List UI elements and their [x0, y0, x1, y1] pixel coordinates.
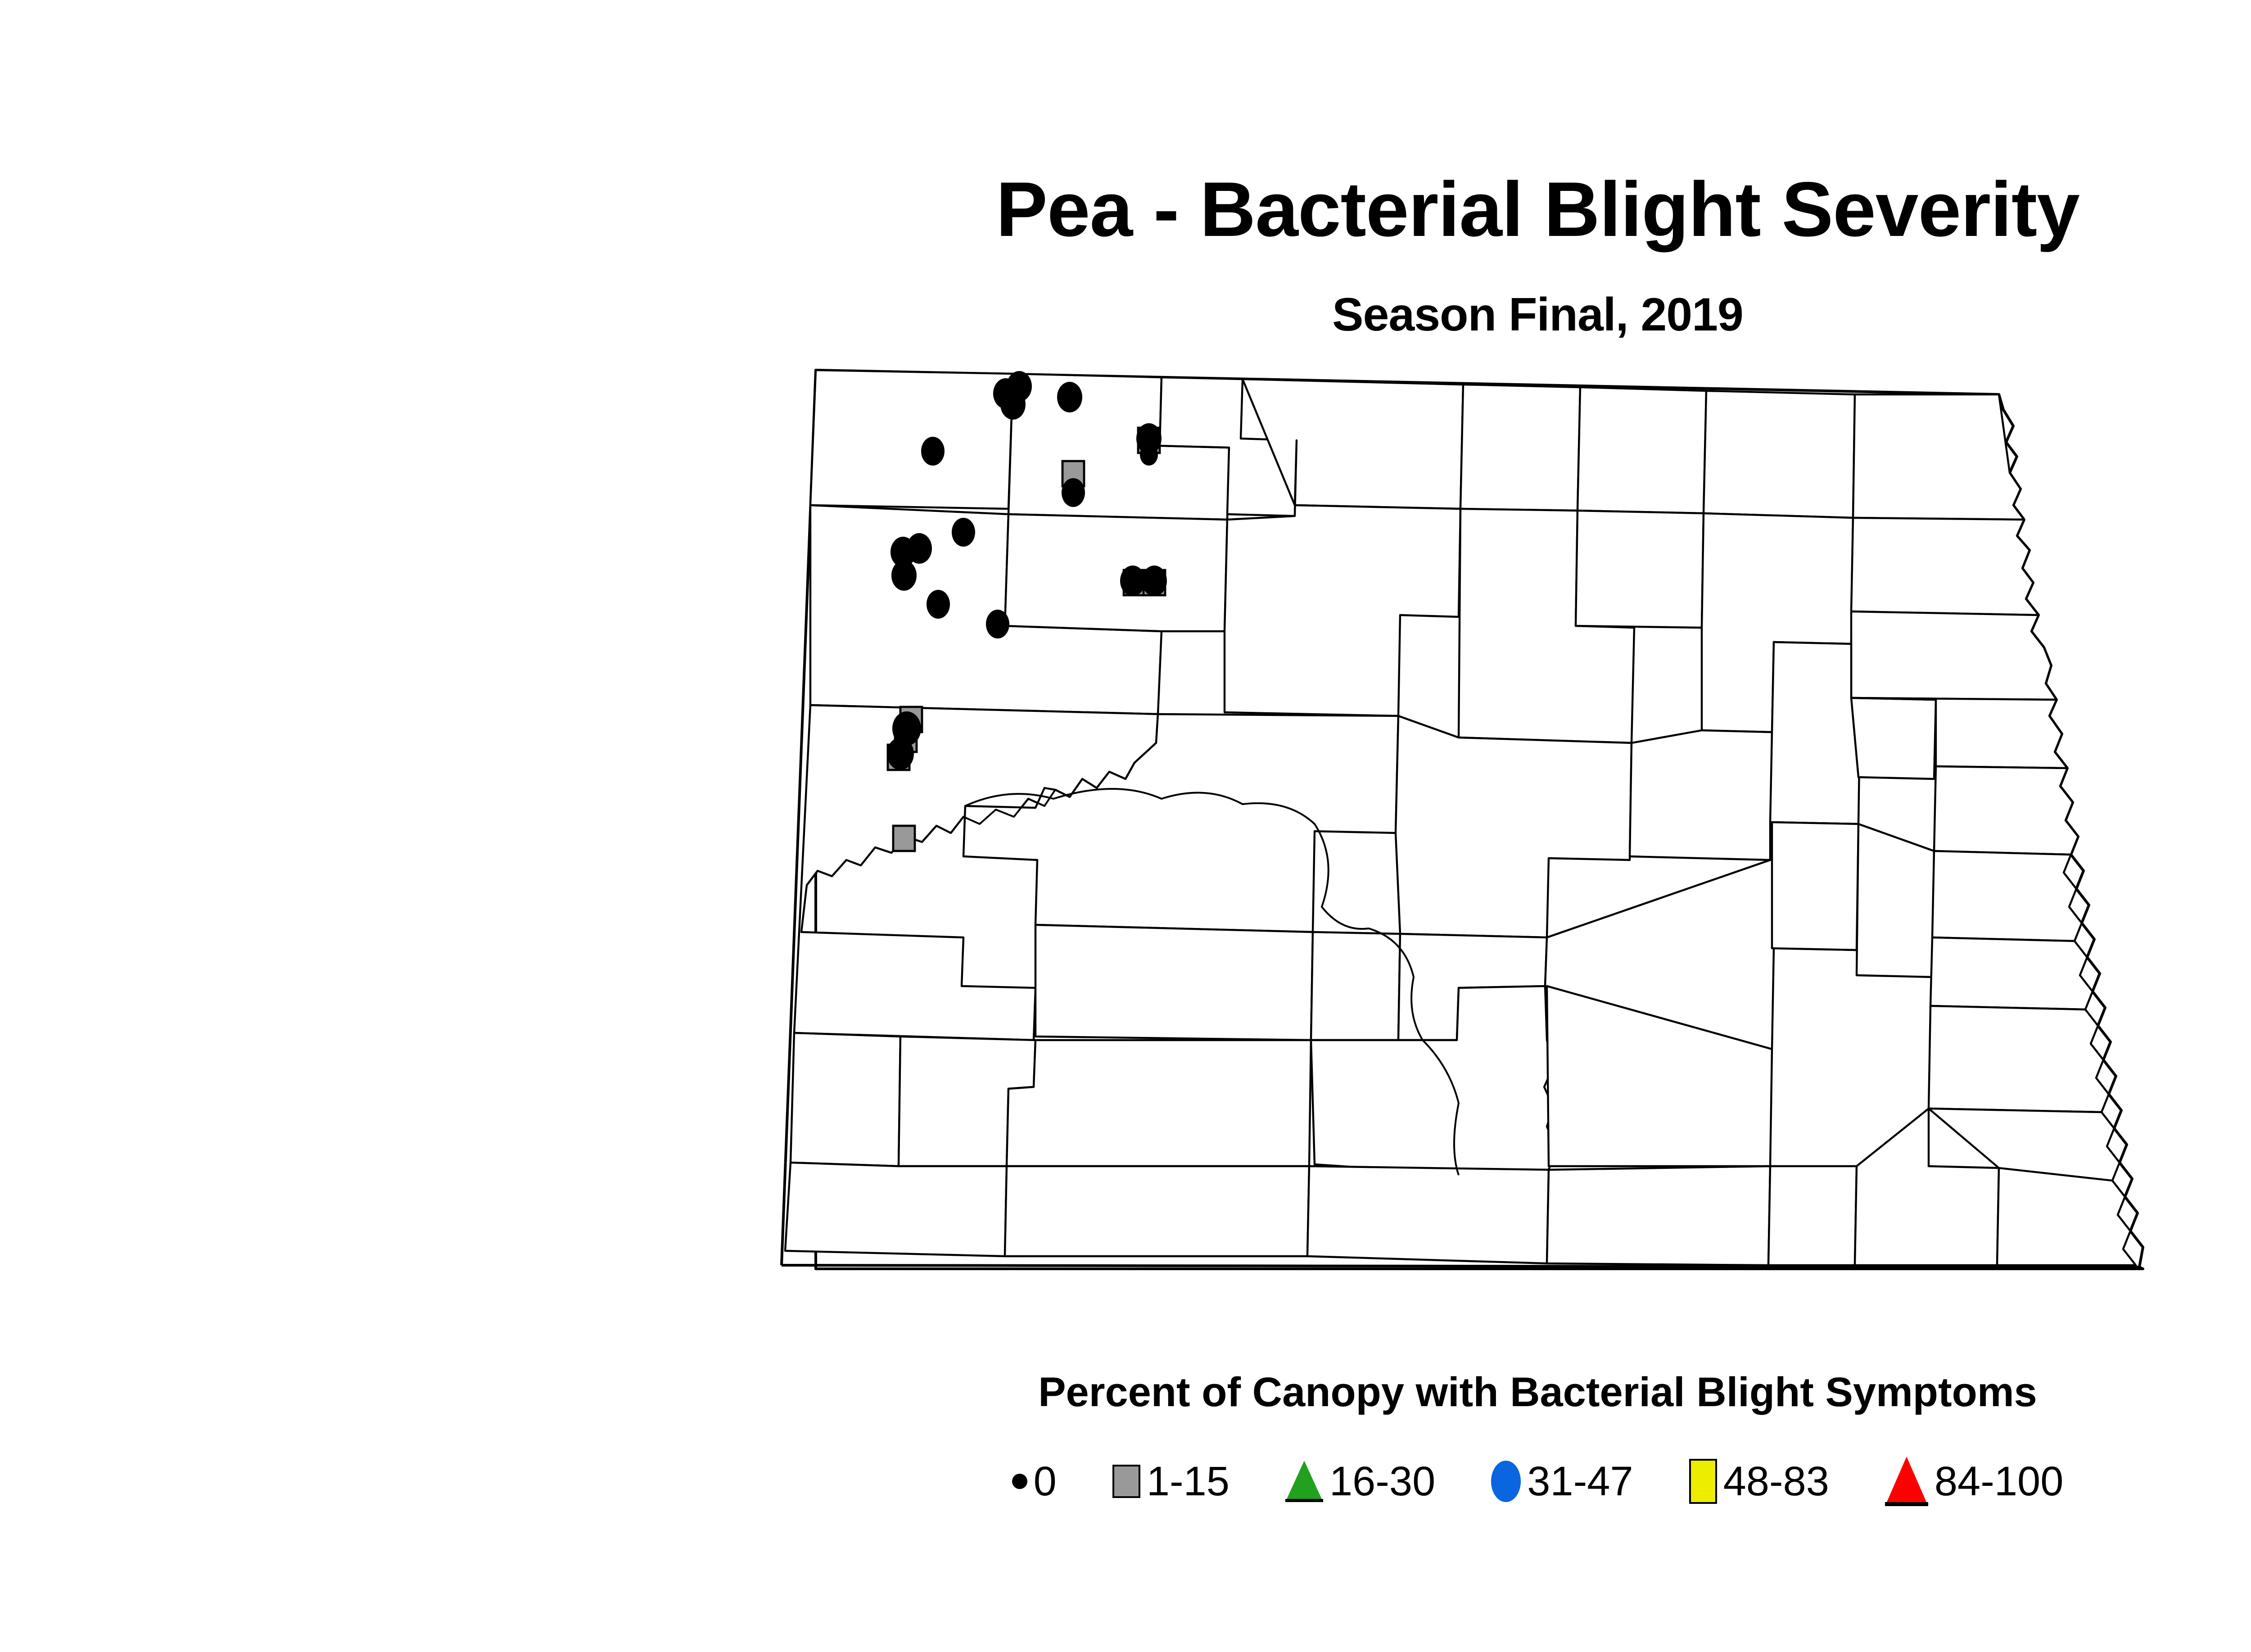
- data-symbol-black-dot: [952, 518, 975, 547]
- county-ramsey: [1851, 518, 2039, 615]
- data-symbol-black-dot: [1062, 478, 1085, 507]
- county-goldenvalley: [791, 1033, 900, 1166]
- data-symbol-black-dot: [986, 610, 1009, 638]
- county-logan: [1768, 1166, 1857, 1265]
- county-emmons: [1547, 1166, 1770, 1265]
- data-symbol-black-dot: [891, 560, 917, 591]
- legend: 0 1-15 16-30 31-47 48-83 84-10: [0, 1448, 2251, 1515]
- red-triangle-icon: [1885, 1457, 1928, 1506]
- data-symbol-gray-square: [893, 826, 915, 851]
- legend-item-48-83[interactable]: 48-83: [1689, 1459, 1829, 1504]
- legend-label-31-47: 31-47: [1527, 1461, 1633, 1502]
- county-wells: [1770, 642, 1860, 824]
- map-county-outlines: [782, 370, 2143, 1269]
- legend-item-0[interactable]: 0: [1012, 1461, 1057, 1502]
- data-symbol-black-dot: [1142, 566, 1167, 596]
- county-towner: [1578, 387, 1706, 513]
- county-richland: [1997, 1168, 2136, 1265]
- county-slope: [785, 1163, 1007, 1256]
- county-divide: [810, 370, 1013, 509]
- legend-item-1-15[interactable]: 1-15: [1112, 1461, 1229, 1502]
- legend-label-16-30: 16-30: [1329, 1461, 1435, 1502]
- county-traill: [1930, 937, 2093, 1009]
- legend-label-0: 0: [1034, 1461, 1057, 1502]
- north-dakota-county-map[interactable]: [738, 356, 2251, 1283]
- gray-square-icon: [1112, 1465, 1140, 1498]
- data-symbol-black-dot: [921, 437, 945, 466]
- county-sheridan: [1630, 730, 1772, 860]
- legend-item-84-100[interactable]: 84-100: [1885, 1457, 2063, 1506]
- legend-item-31-47[interactable]: 31-47: [1491, 1461, 1633, 1502]
- legend-label-1-15: 1-15: [1147, 1461, 1229, 1502]
- legend-title: Percent of Canopy with Bacterial Blight …: [0, 1369, 2251, 1416]
- county-cass: [1929, 1006, 2109, 1112]
- county-kidder: [1772, 822, 1858, 950]
- county-cavalier: [1704, 391, 1855, 518]
- legend-item-16-30[interactable]: 16-30: [1285, 1461, 1435, 1502]
- county-eddy: [1851, 698, 1936, 779]
- green-triangle-icon: [1285, 1461, 1323, 1502]
- legend-label-48-83: 48-83: [1723, 1461, 1829, 1502]
- yellow-square-icon: [1689, 1459, 1717, 1504]
- data-symbol-black-dot: [1057, 382, 1082, 412]
- data-symbol-black-dot: [1120, 566, 1145, 596]
- data-symbol-black-dot: [887, 738, 914, 770]
- county-stutsman: [1857, 824, 1934, 977]
- county-dunnlower: [1035, 925, 1313, 1040]
- county-barnes: [1932, 851, 2082, 941]
- county-walsh: [1851, 611, 2057, 700]
- county-rolette: [1460, 385, 1580, 511]
- county-mountrail: [1005, 514, 1227, 631]
- map-svg[interactable]: [738, 356, 2251, 1283]
- data-symbol-black-dot: [1140, 444, 1158, 466]
- county-stark: [1007, 1040, 1311, 1166]
- page-title: Pea - Bacterial Blight Severity: [0, 167, 2251, 252]
- county-grant: [1307, 1166, 1549, 1263]
- data-symbol-black-dot: [927, 590, 950, 619]
- data-symbol-black-dot: [1000, 389, 1026, 420]
- legend-label-84-100: 84-100: [1935, 1461, 2063, 1502]
- page-subtitle: Season Final, 2019: [0, 288, 2251, 341]
- county-grandforks: [1934, 766, 2078, 855]
- county-hettinger: [1005, 1166, 1309, 1256]
- county-pierce: [1576, 511, 1704, 628]
- black-dot-icon: [1012, 1474, 1027, 1489]
- county-pembina: [1853, 394, 2024, 520]
- county-mercer: [1311, 932, 1400, 1040]
- blue-circle-icon: [1491, 1461, 1521, 1502]
- figure-canvas: Pea - Bacterial Blight Severity Season F…: [0, 0, 2251, 1652]
- data-symbol-black-dot: [907, 533, 932, 564]
